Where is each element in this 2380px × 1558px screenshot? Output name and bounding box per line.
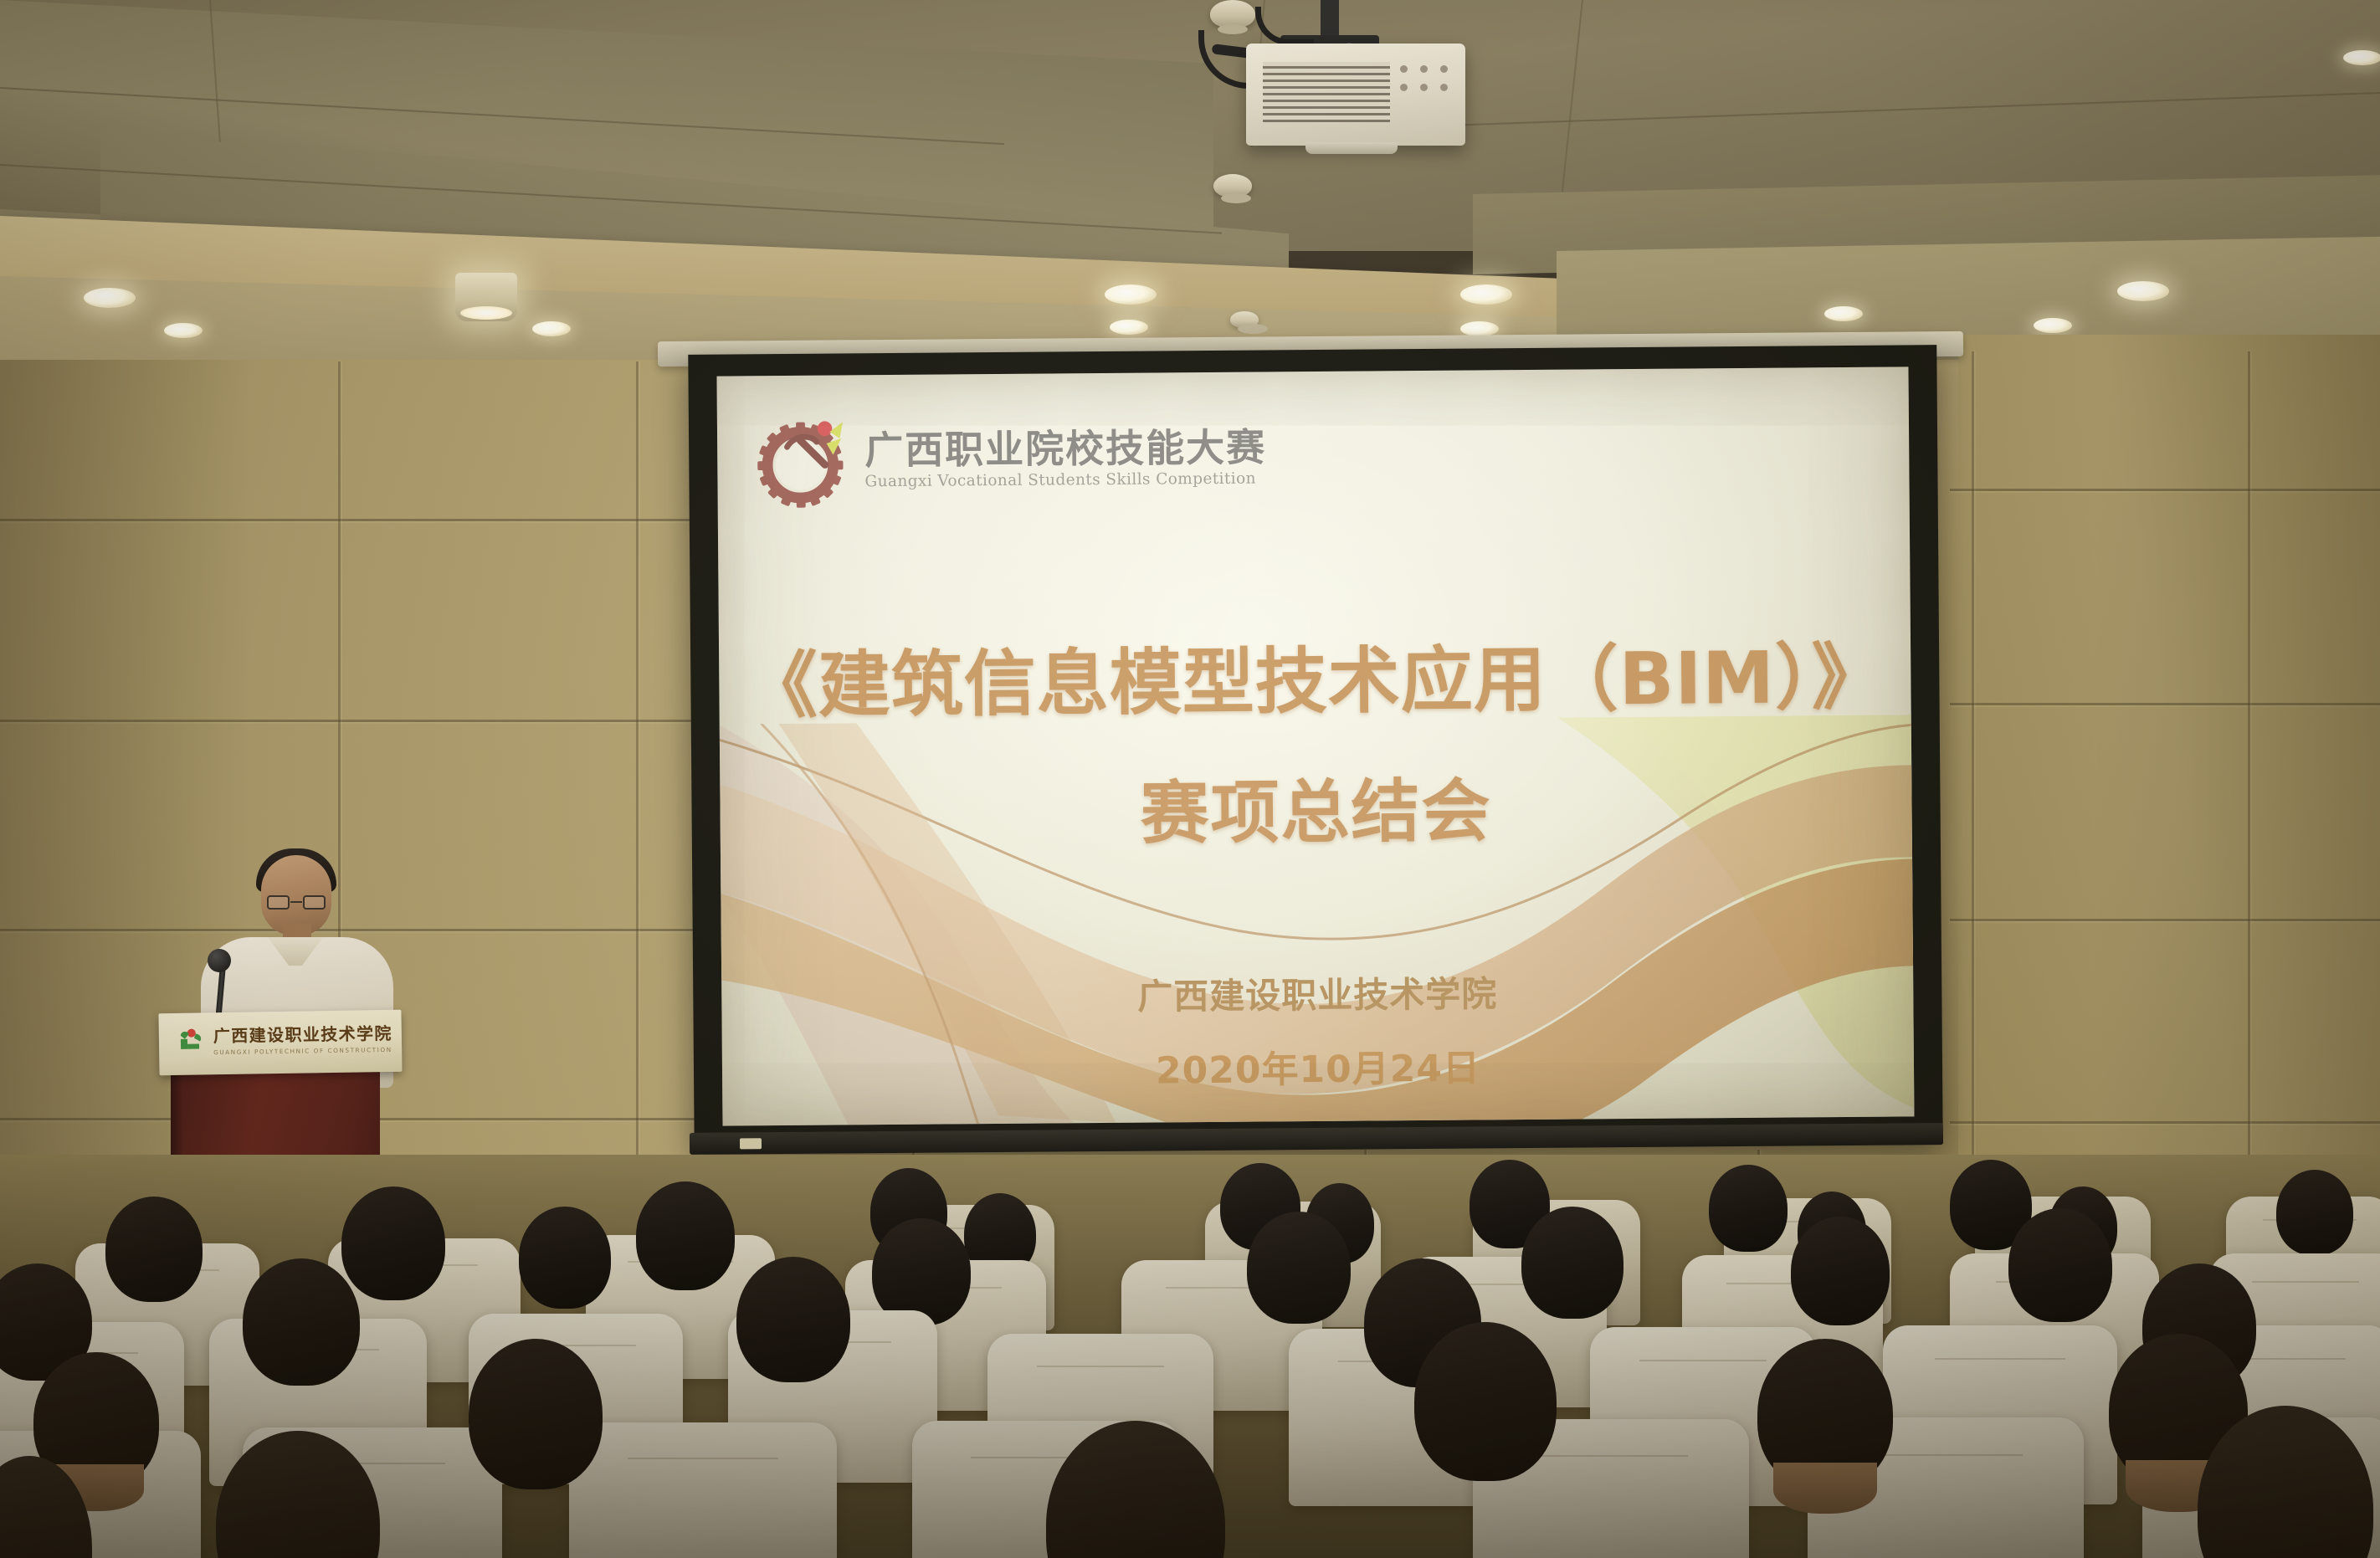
podium-sign-en: GUANGXI POLYTECHNIC OF CONSTRUCTION: [213, 1046, 392, 1056]
audience-head: [469, 1339, 603, 1489]
conference-hall-photo: 广西职业院校技能大赛 Guangxi Vocational Students S…: [0, 0, 2380, 1558]
logo-title-cn: 广西职业院校技能大赛: [864, 427, 1266, 470]
audience-head: [1709, 1165, 1788, 1252]
competition-logo: 广西职业院校技能大赛 Guangxi Vocational Students S…: [754, 410, 1267, 508]
slide-date: 2020年10月24日: [722, 1034, 1914, 1097]
slide-subtitle: 赛项总结会: [720, 751, 1912, 860]
audience-head: [1247, 1212, 1351, 1324]
audience-head: [1791, 1217, 1890, 1325]
audience-head: [2008, 1208, 2112, 1322]
podium-sign-cn: 广西建设职业技术学院: [213, 1020, 392, 1047]
wall-shadow: [2092, 335, 2380, 1205]
ceiling-downlight-icon: [1460, 284, 1512, 305]
ceiling-downlight-icon: [1110, 320, 1148, 335]
audience-head: [519, 1207, 611, 1309]
podium-front-panel: 广西建设职业技术学院 GUANGXI POLYTECHNIC OF CONSTR…: [158, 1010, 402, 1076]
wall-panel-seam: [636, 361, 639, 1198]
ceiling-downlight-icon: [532, 321, 571, 336]
smoke-detector-icon: [1210, 0, 1255, 28]
audience-head: [636, 1181, 735, 1290]
wall-panel-seam: [1972, 351, 1974, 1197]
ceiling-downlight-icon: [1824, 306, 1863, 321]
gear-figure-logo-icon: [754, 413, 854, 508]
ceiling-downlight-icon: [84, 288, 136, 308]
chair: 广西建设职业技术学院: [569, 1422, 837, 1558]
audience-head: [736, 1257, 850, 1382]
ceiling-downlight-icon: [2117, 281, 2169, 301]
slide-main-title: 《建筑信息模型技术应用（BIM）》: [719, 618, 1911, 731]
projector-vent-grille: [1263, 62, 1390, 122]
audience-seating-area: 广西建设职业技术学院 广西建设职业技术学院 广西建设职业技术学院 广西建设职业技…: [0, 1155, 2380, 1558]
ceiling-downlight-icon: [2343, 50, 2380, 65]
podium-sign: 广西建设职业技术学院 GUANGXI POLYTECHNIC OF CONSTR…: [177, 1020, 387, 1057]
eyeglasses-icon: [267, 895, 326, 910]
slide-organization: 广西建设职业技术学院: [721, 962, 1913, 1022]
audience-head: [1521, 1207, 1623, 1319]
ceiling-downlight-icon: [164, 323, 203, 338]
audience-head: [341, 1186, 445, 1300]
audience-head: [105, 1197, 203, 1302]
ceiling-downlight-icon: [1105, 284, 1157, 305]
smoke-detector-icon: [1213, 174, 1252, 197]
audience-head: [872, 1218, 971, 1325]
ceiling-spotlight-icon: [455, 273, 517, 321]
school-emblem-icon: [177, 1027, 206, 1053]
ceiling-downlight-icon: [2034, 318, 2072, 333]
presentation-slide: 广西职业院校技能大赛 Guangxi Vocational Students S…: [716, 366, 1914, 1125]
projection-screen: 广西职业院校技能大赛 Guangxi Vocational Students S…: [688, 345, 1942, 1151]
microphone-icon: [208, 949, 231, 972]
projector-indicator-lights: [1400, 65, 1450, 102]
smoke-detector-icon: [1230, 311, 1259, 328]
screen-pull-tab[interactable]: [740, 1138, 762, 1149]
logo-title-en: Guangxi Vocational Students Skills Compe…: [864, 470, 1266, 491]
audience-head: [243, 1258, 360, 1386]
projector-lens: [1305, 142, 1398, 154]
audience-head: [1414, 1322, 1557, 1481]
projector: [1246, 44, 1465, 146]
audience-head: [1757, 1339, 1893, 1489]
audience-head: [2276, 1170, 2353, 1255]
